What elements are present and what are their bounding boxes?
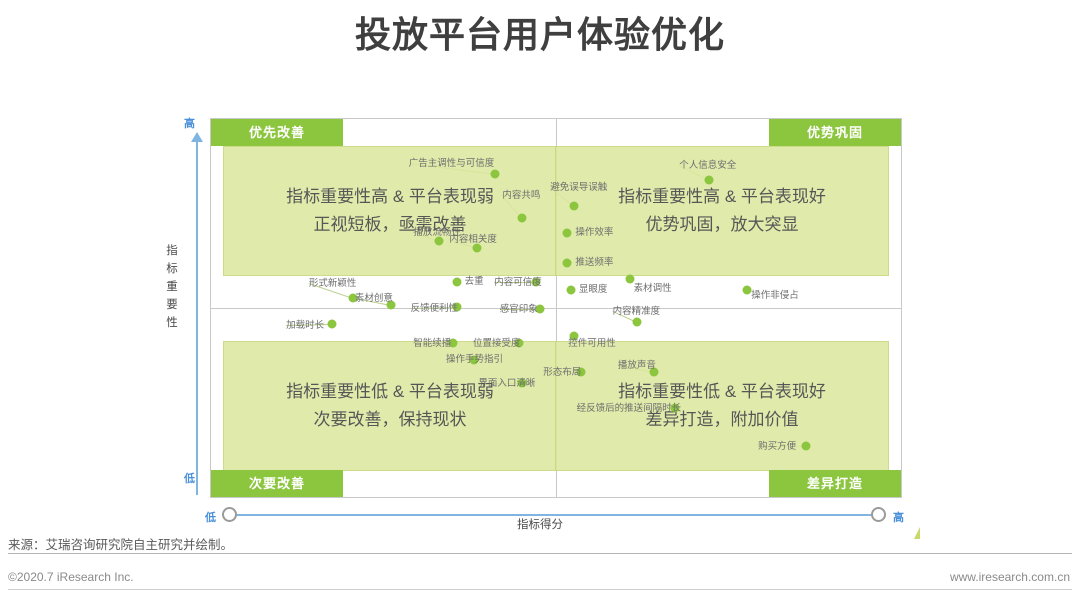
data-point-label: 购买方便 <box>758 441 796 452</box>
data-point-label: 操作非侵占 <box>751 290 799 301</box>
data-point-label: 加载时长 <box>286 320 324 331</box>
data-point-label: 素材调性 <box>634 283 672 294</box>
y-axis-line <box>196 140 198 495</box>
callout-bottom-left: 指标重要性低 & 平台表现弱 次要改善，保持现状 <box>223 341 557 471</box>
data-point[interactable] <box>570 202 579 211</box>
source-divider <box>8 553 1072 554</box>
callout-bl-line2: 次要改善，保持现状 <box>314 406 467 434</box>
page-title: 投放平台用户体验优化 <box>0 12 1080 58</box>
data-point-label: 去重 <box>465 276 484 287</box>
data-point-label: 操作效率 <box>575 227 613 238</box>
data-point-label: 内容相关度 <box>449 234 497 245</box>
data-point[interactable] <box>563 259 572 268</box>
data-point-label: 控件可用性 <box>568 338 616 349</box>
quadrant-tag-bottom-right: 差异打造 <box>769 470 901 497</box>
copyright-text: ©2020.7 iResearch Inc. <box>8 570 134 584</box>
x-axis-left-knob[interactable] <box>222 507 237 522</box>
data-point-label: 形式新颖性 <box>309 278 357 289</box>
y-axis-low-label: 低 <box>184 470 195 486</box>
x-axis-right-knob[interactable] <box>871 507 886 522</box>
data-point[interactable] <box>632 318 641 327</box>
data-point-label: 形态布局 <box>543 367 581 378</box>
callout-br-line1: 指标重要性低 & 平台表现好 <box>618 378 826 406</box>
data-point-label: 推送频率 <box>575 257 613 268</box>
website-text: www.iresearch.com.cn <box>950 570 1070 584</box>
data-point-label: 界面入口清晰 <box>478 378 535 389</box>
callout-tr-line2: 优势巩固，放大突显 <box>646 211 799 239</box>
slide-canvas: 投放平台用户体验优化 高 低 指标重要性 低 高 指标得分 广告主调性与可信度内… <box>0 0 1080 599</box>
data-point[interactable] <box>705 175 714 184</box>
data-point-label: 内容共鸣 <box>502 190 540 201</box>
source-note: 来源：艾瑞咨询研究院自主研究并绘制。 <box>8 534 233 553</box>
data-point-label: 避免误导误触 <box>550 182 607 193</box>
data-point-label: 个人信息安全 <box>679 160 736 171</box>
data-point-label: 广告主调性与可信度 <box>409 158 495 169</box>
data-point[interactable] <box>452 278 461 287</box>
data-point[interactable] <box>328 320 337 329</box>
callout-bl-line1: 指标重要性低 & 平台表现弱 <box>286 378 494 406</box>
footer-divider <box>8 589 1072 590</box>
quadrant-chart: 广告主调性与可信度内容共鸣播放流畅性内容相关度去重形式新颖性素材创意反馈便利性感… <box>210 118 902 498</box>
callout-top-left: 指标重要性高 & 平台表现弱 正视短板，亟需改善 <box>223 146 557 276</box>
data-point-label: 感官印象 <box>500 304 538 315</box>
quadrant-tag-bottom-left: 次要改善 <box>211 470 343 497</box>
y-axis-high-label: 高 <box>184 115 195 131</box>
quadrant-tag-top-right: 优势巩固 <box>769 119 901 146</box>
data-point-label: 播放声音 <box>618 360 656 371</box>
data-point-label: 操作手势指引 <box>446 354 503 365</box>
data-point[interactable] <box>490 170 499 179</box>
data-point-label: 显眼度 <box>579 284 608 295</box>
data-point-label: 内容可信度 <box>494 277 542 288</box>
callout-tl-line1: 指标重要性高 & 平台表现弱 <box>286 183 494 211</box>
y-axis-title: 指标重要性 <box>164 242 180 332</box>
data-point-label: 内容精准度 <box>613 306 661 317</box>
quadrant-tag-top-left: 优先改善 <box>211 119 343 146</box>
data-point-label: 反馈便利性 <box>411 303 459 314</box>
callout-tr-line1: 指标重要性高 & 平台表现好 <box>618 183 826 211</box>
data-point-label: 位置接受度 <box>473 338 521 349</box>
data-point-label: 经反馈后的推送间隔时长 <box>577 403 682 414</box>
data-point-label: 素材创意 <box>355 293 393 304</box>
quadrant-divider-horizontal <box>211 308 901 309</box>
data-point[interactable] <box>566 286 575 295</box>
data-point-label: 智能续播 <box>413 338 451 349</box>
data-point[interactable] <box>518 213 527 222</box>
data-point[interactable] <box>802 441 811 450</box>
data-point[interactable] <box>563 229 572 238</box>
corner-triangle-icon <box>914 527 920 539</box>
